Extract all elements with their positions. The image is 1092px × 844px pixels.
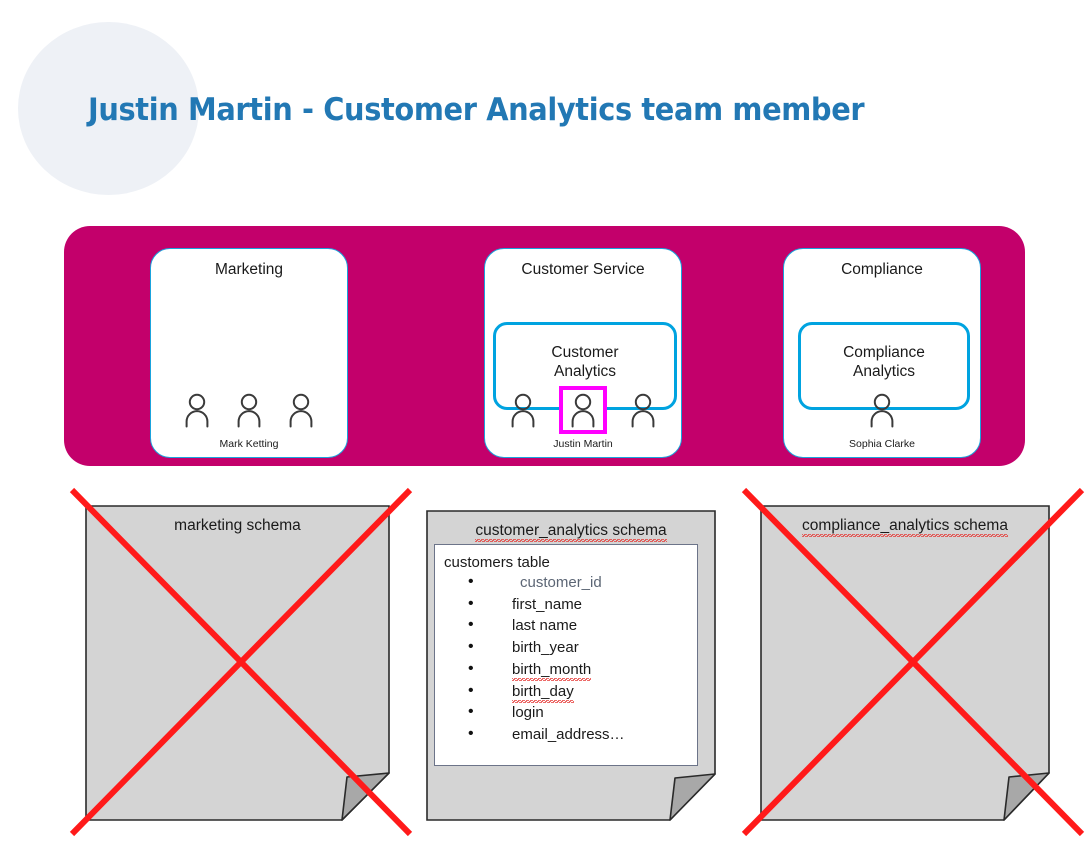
schema-doc-compliance-analytics[interactable]: compliance_analytics schema (760, 505, 1050, 821)
schema-doc-title-customer-analytics: customer_analytics schema (426, 522, 716, 540)
schema-doc-customer-analytics[interactable]: customer_analytics schema customers tabl… (426, 510, 716, 821)
field-list-item[interactable]: birth_day (464, 681, 697, 703)
document-shape-icon (760, 505, 1050, 821)
document-shape-icon (85, 505, 390, 821)
field-list-item[interactable]: first_name (464, 594, 697, 616)
dept-title-customer-service: Customer Service (485, 261, 681, 279)
field-list-item[interactable]: login (464, 702, 697, 724)
customers-table-panel: customers table customer_id first_name l… (434, 544, 698, 766)
field-list-item[interactable]: birth_year (464, 637, 697, 659)
person-icon-highlighted-justin-martin[interactable] (559, 386, 607, 434)
dept-member-name-customer-service: Justin Martin (485, 438, 681, 450)
person-icon[interactable] (627, 391, 659, 429)
person-icon[interactable] (507, 391, 539, 429)
dept-card-compliance[interactable]: Compliance ComplianceAnalytics Sophia Cl… (783, 248, 981, 458)
person-icon[interactable] (181, 391, 213, 429)
person-icon[interactable] (285, 391, 317, 429)
dept-member-name-compliance: Sophia Clarke (784, 438, 980, 450)
schema-doc-title-compliance-analytics: compliance_analytics schema (760, 517, 1050, 535)
person-icon[interactable] (866, 391, 898, 429)
customers-table-title: customers table (444, 554, 697, 571)
schema-doc-title-marketing: marketing schema (85, 517, 390, 535)
people-row-marketing (151, 389, 347, 429)
field-list-item[interactable]: email_address… (464, 724, 697, 746)
field-list-item[interactable]: last name (464, 615, 697, 637)
dept-title-compliance: Compliance (784, 261, 980, 279)
analytics-label-customer-analytics: CustomerAnalytics (496, 343, 674, 381)
schema-doc-marketing[interactable]: marketing schema (85, 505, 390, 821)
people-row-customer-service (485, 389, 681, 429)
dept-member-name-marketing: Mark Ketting (151, 438, 347, 450)
people-row-compliance (784, 389, 980, 429)
field-list-item[interactable]: birth_month (464, 659, 697, 681)
dept-card-marketing[interactable]: Marketing Mark Ketting (150, 248, 348, 458)
analytics-label-compliance-analytics: ComplianceAnalytics (801, 343, 967, 381)
field-list-item[interactable]: customer_id (464, 572, 697, 594)
page-title: Justin Martin - Customer Analytics team … (88, 92, 864, 128)
person-icon[interactable] (233, 391, 265, 429)
dept-title-marketing: Marketing (151, 261, 347, 279)
customers-field-list: customer_id first_name last name birth_y… (444, 572, 697, 746)
dept-card-customer-service[interactable]: Customer Service CustomerAnalytics Justi… (484, 248, 682, 458)
